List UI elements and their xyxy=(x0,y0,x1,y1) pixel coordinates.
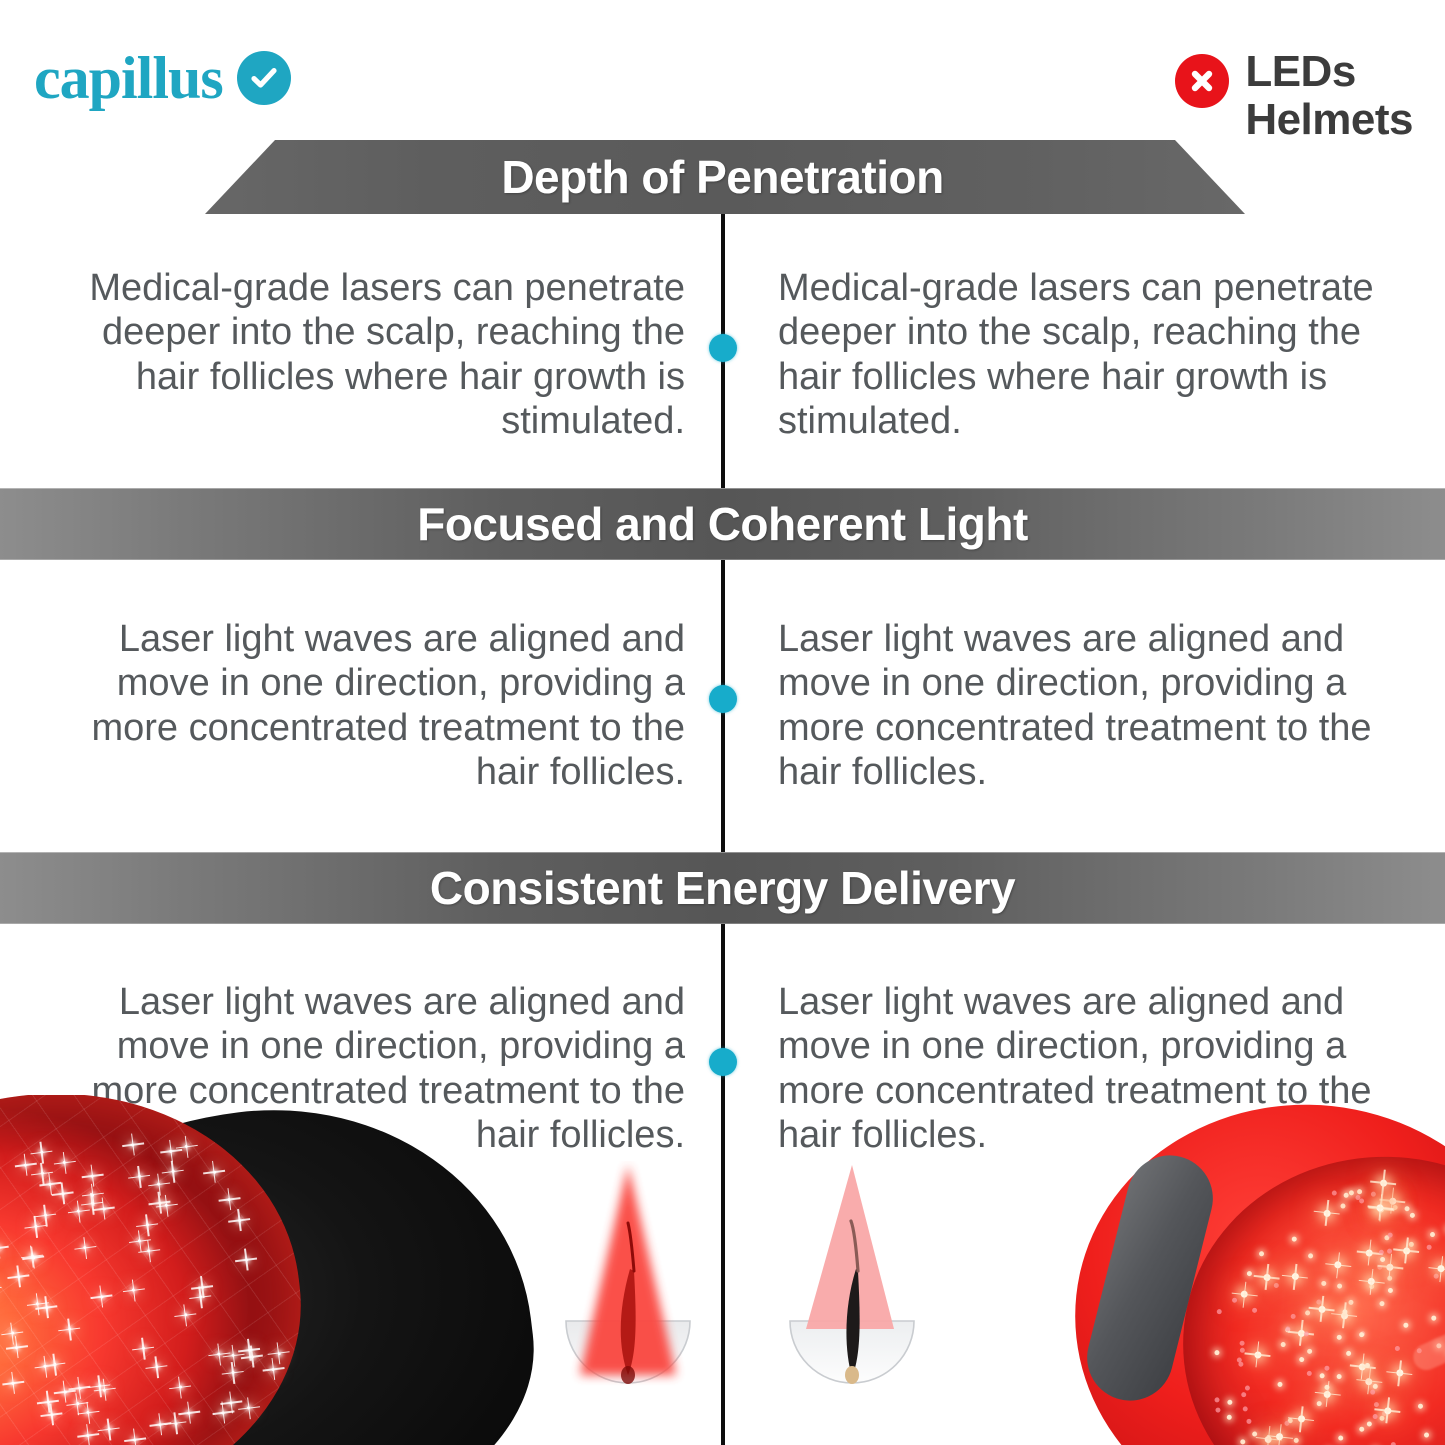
led-point xyxy=(1368,1278,1376,1286)
laser-point xyxy=(201,1286,204,1289)
led-point xyxy=(1273,1283,1278,1288)
led-point xyxy=(1247,1271,1252,1276)
section-1-right-text: Medical-grade lasers can penetrate deepe… xyxy=(778,266,1405,444)
divider-dot-1 xyxy=(709,334,737,362)
laser-point xyxy=(229,1401,232,1404)
led-point xyxy=(1280,1342,1285,1347)
led-point xyxy=(1319,1373,1324,1378)
led-point xyxy=(1390,1441,1395,1445)
led-point xyxy=(1317,1401,1322,1406)
led-point xyxy=(1380,1257,1385,1262)
laser-point xyxy=(50,1413,53,1416)
led-point xyxy=(1424,1432,1429,1437)
laser-point xyxy=(32,1256,35,1259)
laser-point xyxy=(86,1434,89,1437)
laser-point xyxy=(131,1143,134,1146)
led-point xyxy=(1357,1189,1362,1194)
led-point xyxy=(1370,1389,1375,1394)
led-point xyxy=(1290,1313,1295,1318)
laser-point xyxy=(98,1385,101,1388)
divider-dot-2 xyxy=(709,685,737,713)
laser-point xyxy=(68,1328,71,1331)
laser-point xyxy=(184,1314,187,1317)
led-point xyxy=(1404,1206,1409,1211)
led-point xyxy=(1387,1288,1392,1293)
laser-point xyxy=(49,1183,52,1186)
led-point xyxy=(1242,1406,1247,1411)
laser-point xyxy=(78,1386,81,1389)
led-point xyxy=(1384,1407,1392,1415)
laser-point xyxy=(41,1172,44,1175)
led-point xyxy=(1316,1299,1321,1304)
laser-point xyxy=(171,1170,174,1173)
led-point xyxy=(1240,1341,1245,1346)
section-1-left-text: Medical-grade lasers can penetrate deepe… xyxy=(40,266,685,444)
laser-point xyxy=(100,1295,103,1298)
led-point xyxy=(1334,1261,1342,1269)
led-point xyxy=(1386,1263,1394,1271)
laser-point xyxy=(44,1214,47,1217)
led-point xyxy=(1254,1351,1262,1359)
led-point xyxy=(1244,1385,1249,1390)
led-point xyxy=(1396,1369,1404,1377)
led-point xyxy=(1367,1422,1372,1427)
x-circle-icon xyxy=(1175,54,1229,108)
laser-point xyxy=(77,1210,80,1213)
led-point xyxy=(1215,1397,1220,1402)
laser-point xyxy=(218,1353,221,1356)
led-point xyxy=(1299,1357,1304,1362)
laser-point xyxy=(86,1411,89,1414)
led-point xyxy=(1239,1362,1244,1367)
led-point xyxy=(1359,1332,1364,1337)
led-point xyxy=(1378,1250,1383,1255)
led-point xyxy=(1346,1351,1351,1356)
laser-point xyxy=(138,1175,141,1178)
laser-point xyxy=(61,1192,64,1195)
laser-point xyxy=(63,1161,66,1164)
laser-point xyxy=(45,1306,48,1309)
led-point xyxy=(1409,1212,1414,1217)
laser-point xyxy=(107,1428,110,1431)
section-title-1: Depth of Penetration xyxy=(501,154,943,200)
led-point xyxy=(1337,1374,1342,1379)
led-point xyxy=(1214,1350,1219,1355)
laser-point xyxy=(185,1145,188,1148)
led-point xyxy=(1336,1335,1341,1340)
laser-point xyxy=(24,1163,27,1166)
laser-point xyxy=(132,1289,135,1292)
laser-point xyxy=(174,1422,177,1425)
led-point xyxy=(1380,1179,1388,1187)
led-point xyxy=(1370,1191,1375,1196)
led-point xyxy=(1321,1280,1326,1285)
laser-point xyxy=(91,1174,94,1177)
laser-point xyxy=(76,1402,79,1405)
led-point xyxy=(1241,1392,1246,1397)
laser-point xyxy=(11,1381,14,1384)
led-point xyxy=(1358,1198,1363,1203)
led-point xyxy=(1215,1408,1220,1413)
led-point xyxy=(1308,1253,1313,1258)
led-point xyxy=(1241,1291,1249,1299)
laser-point xyxy=(165,1204,168,1207)
led-point xyxy=(1430,1231,1435,1236)
laser-point xyxy=(17,1275,20,1278)
led-point xyxy=(1409,1242,1414,1247)
led-point xyxy=(1324,1385,1329,1390)
laser-point xyxy=(133,1438,136,1441)
led-point xyxy=(1373,1414,1378,1419)
laser-point xyxy=(15,1346,18,1349)
led-point xyxy=(1338,1435,1343,1440)
laser-point xyxy=(158,1423,161,1426)
laser-point xyxy=(247,1406,250,1409)
laser-point xyxy=(231,1371,234,1374)
section-2-left-text: Laser light waves are aligned and move i… xyxy=(40,617,685,795)
check-circle-icon xyxy=(237,51,291,105)
capillus-brand: capillus xyxy=(34,48,291,108)
helmets-line: Helmets xyxy=(1245,96,1413,144)
laser-point xyxy=(138,1240,141,1243)
section-banner-3: Consistent Energy Delivery xyxy=(0,852,1445,924)
led-point xyxy=(1246,1419,1251,1424)
led-point xyxy=(1379,1416,1384,1421)
center-divider xyxy=(721,212,725,1445)
laser-point xyxy=(232,1354,235,1357)
laser-point xyxy=(178,1385,181,1388)
led-point xyxy=(1291,1273,1299,1281)
led-point xyxy=(1252,1431,1257,1436)
led-point xyxy=(1373,1384,1378,1389)
led-point xyxy=(1284,1420,1289,1425)
led-point xyxy=(1276,1433,1284,1441)
laser-point xyxy=(47,1400,50,1403)
laser-point xyxy=(146,1223,149,1226)
led-point xyxy=(1305,1310,1310,1315)
led-point xyxy=(1263,1274,1271,1282)
led-point xyxy=(1365,1377,1373,1385)
led-point xyxy=(1232,1298,1237,1303)
led-point xyxy=(1324,1390,1332,1398)
section-banner-1: Depth of Penetration xyxy=(0,140,1445,214)
led-point xyxy=(1431,1316,1436,1321)
led-point xyxy=(1359,1426,1364,1431)
laser-point xyxy=(40,1151,43,1154)
led-point xyxy=(1298,1415,1306,1423)
led-point xyxy=(1259,1251,1264,1256)
laser-point xyxy=(103,1388,106,1391)
led-point xyxy=(1366,1249,1374,1257)
led-point xyxy=(1293,1438,1298,1443)
laser-point xyxy=(248,1348,251,1351)
laser-point xyxy=(147,1250,150,1253)
led-point xyxy=(1403,1247,1411,1255)
led-point xyxy=(1348,1299,1353,1304)
led-point xyxy=(1292,1236,1297,1241)
led-point xyxy=(1437,1265,1445,1273)
deep-laser-penetration-diagram xyxy=(548,1161,708,1411)
section-2-right-text: Laser light waves are aligned and move i… xyxy=(778,617,1405,795)
laser-point xyxy=(83,1246,86,1249)
laser-point xyxy=(11,1332,14,1335)
laser-point xyxy=(102,1207,105,1210)
laser-point xyxy=(245,1258,248,1261)
laser-point xyxy=(142,1347,145,1350)
led-point xyxy=(1227,1400,1232,1405)
led-point xyxy=(1337,1284,1342,1289)
led-point xyxy=(1389,1197,1397,1205)
led-point xyxy=(1388,1232,1393,1237)
leds-helmets-brand: LEDs Helmets xyxy=(1175,48,1413,143)
shallow-led-penetration-diagram xyxy=(772,1161,932,1411)
laser-point xyxy=(34,1225,37,1228)
divider-dot-3 xyxy=(709,1048,737,1076)
led-helmet-photo xyxy=(1065,1095,1445,1445)
laser-point xyxy=(158,1201,161,1204)
laser-point xyxy=(277,1352,280,1355)
laser-point xyxy=(187,1411,190,1414)
laser-point xyxy=(213,1170,216,1173)
led-point xyxy=(1426,1245,1431,1250)
leds-helmets-label: LEDs Helmets xyxy=(1245,48,1413,143)
led-point xyxy=(1348,1190,1353,1195)
section-title-2: Focused and Coherent Light xyxy=(417,501,1028,547)
led-point xyxy=(1252,1308,1257,1313)
led-point xyxy=(1395,1345,1400,1350)
led-point xyxy=(1323,1209,1331,1217)
led-point xyxy=(1227,1415,1232,1420)
led-point xyxy=(1277,1382,1282,1387)
laser-point xyxy=(238,1219,241,1222)
led-point xyxy=(1373,1402,1378,1407)
laser-point xyxy=(169,1150,172,1153)
laser-point xyxy=(251,1355,254,1358)
laser-point xyxy=(157,1183,160,1186)
led-point xyxy=(1307,1370,1312,1375)
infographic-canvas: capillus LEDs Helmets Depth of Penetrati… xyxy=(0,0,1445,1445)
laser-point xyxy=(228,1198,231,1201)
led-point xyxy=(1403,1322,1408,1327)
laser-point xyxy=(221,1411,224,1414)
led-point xyxy=(1216,1309,1221,1314)
led-point xyxy=(1318,1305,1326,1313)
led-point xyxy=(1240,1439,1245,1444)
led-point xyxy=(1417,1404,1422,1409)
led-point xyxy=(1306,1348,1311,1353)
led-point xyxy=(1331,1191,1336,1196)
section-banner-2: Focused and Coherent Light xyxy=(0,488,1445,560)
laser-point xyxy=(43,1365,46,1368)
led-point xyxy=(1380,1301,1385,1306)
led-point xyxy=(1344,1192,1349,1197)
led-point xyxy=(1340,1203,1345,1208)
section-title-3: Consistent Energy Delivery xyxy=(430,865,1015,911)
laser-point xyxy=(91,1193,94,1196)
laser-point xyxy=(36,1303,39,1306)
led-point xyxy=(1324,1366,1329,1371)
laser-point xyxy=(199,1296,202,1299)
leds-line: LEDs xyxy=(1245,48,1413,96)
led-point xyxy=(1365,1362,1370,1367)
brand-name: capillus xyxy=(34,48,223,108)
led-point xyxy=(1304,1332,1309,1337)
laser-point xyxy=(63,1390,66,1393)
capillus-laser-cap-photo xyxy=(0,1095,540,1445)
laser-point xyxy=(272,1368,275,1371)
laser-point xyxy=(155,1365,158,1368)
